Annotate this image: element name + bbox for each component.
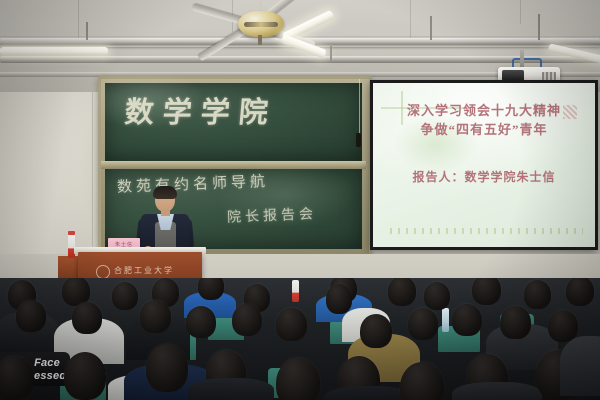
audience-torso: [560, 336, 600, 396]
ceiling-seam-4: [520, 0, 521, 24]
hanging-pointer-string: [359, 79, 360, 137]
speaker-person: [137, 188, 193, 254]
audience-torso: [188, 378, 274, 400]
audience-head: [16, 300, 46, 332]
audience-head: [360, 314, 392, 348]
fluorescent-light-icon: [0, 47, 108, 55]
audience-head: [146, 344, 188, 392]
audience-head: [524, 280, 551, 309]
audience-torso: [452, 382, 542, 400]
water-bottle-icon: [292, 280, 299, 302]
audience-head: [140, 300, 171, 333]
blackboard-chalk-line-2: 院长报告会: [227, 203, 318, 227]
hanging-pointer-tip: [356, 133, 361, 147]
duct-hanger-4: [538, 14, 540, 40]
university-logo-icon: [96, 265, 110, 279]
audience-area: Face cessed: [0, 278, 600, 400]
ceiling-seam-3: [410, 0, 411, 38]
duct-hanger-3: [430, 16, 432, 40]
lecture-hall-photo: 数学学院 数苑有约名师导航 院长报告会 深入学习领会十九大精神 争做“四有五好”…: [0, 0, 600, 400]
blackboard-upper-panel: 数学学院: [105, 83, 362, 161]
duct-hanger-5: [330, 46, 332, 62]
audience-head: [276, 308, 307, 341]
audience-head: [232, 304, 262, 336]
audience-head: [64, 352, 106, 400]
projector-vent: [542, 72, 556, 80]
audience-head: [326, 284, 352, 314]
projection-screen-frame: 深入学习领会十九大精神 争做“四有五好”青年 报告人：数学学院朱士信: [370, 80, 598, 250]
audience-head: [276, 358, 320, 400]
blackboard-divider: [101, 161, 366, 169]
audience-head: [112, 282, 138, 310]
fan-stem: [258, 35, 262, 45]
audience-head: [452, 304, 482, 336]
audience-head: [424, 282, 450, 310]
projection-screen: 深入学习领会十九大精神 争做“四有五好”青年 报告人：数学学院朱士信: [373, 83, 595, 247]
audience-head: [500, 306, 531, 339]
ceiling-duct-lower: [0, 56, 600, 63]
audience-head: [472, 278, 501, 305]
audience-head: [388, 278, 416, 306]
speaker-hair: [153, 186, 177, 199]
slide-decoration-wave: [387, 228, 583, 234]
duct-hanger-1: [86, 22, 88, 40]
audience-head: [186, 306, 216, 338]
podium-brand-text: 合肥工业大学: [114, 265, 174, 276]
ceiling-seam-1: [78, 0, 79, 38]
audience-head: [0, 356, 34, 400]
audience-head: [400, 362, 444, 400]
blackboard-heading: 数学学院: [123, 89, 279, 131]
audience-head: [408, 308, 438, 340]
audience-head: [198, 278, 224, 300]
audience-head: [72, 302, 102, 334]
slide-title-line-1: 深入学习领会十九大精神: [373, 100, 595, 119]
water-bottle-icon: [68, 234, 75, 258]
slide-title-line-2: 争做“四有五好”青年: [373, 119, 595, 138]
slide-presenter-line: 报告人：数学学院朱士信: [373, 168, 595, 185]
water-bottle-cap: [68, 231, 75, 235]
audience-head: [548, 310, 578, 342]
water-bottle-icon: [442, 308, 449, 332]
fan-motor-housing: [238, 11, 284, 37]
audience-head: [566, 278, 594, 306]
